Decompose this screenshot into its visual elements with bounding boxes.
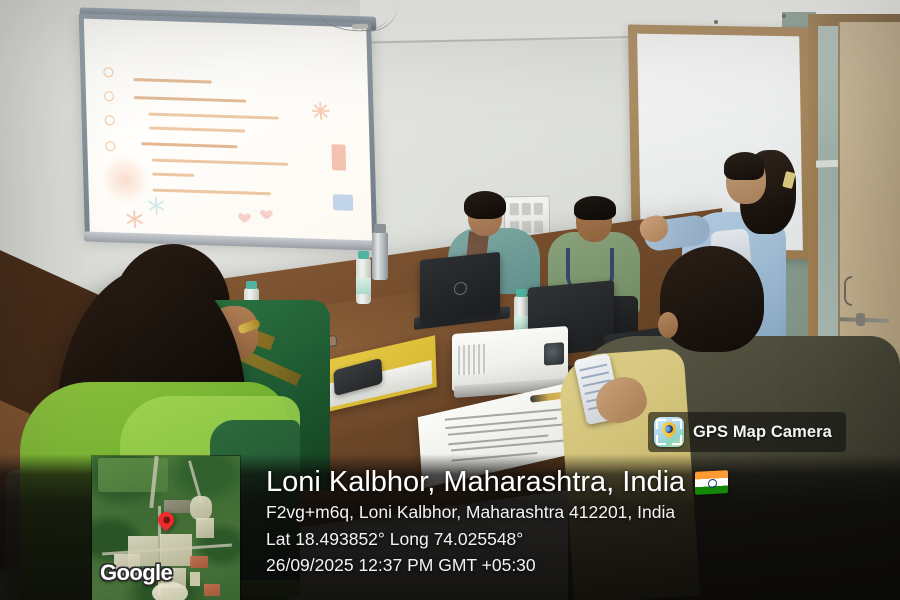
india-flag-icon [695,470,728,495]
foreground-participant-ear [658,312,678,338]
door-handle-icon[interactable] [844,276,852,306]
gps-map-camera-icon [654,417,684,447]
door-latch-knob[interactable] [856,313,865,326]
presenter-hair-front [724,152,764,180]
projection-screen [79,13,378,246]
projector-vent [458,344,486,376]
google-watermark: Google [100,560,172,586]
participant-man-hair [574,196,616,220]
map-building-9 [204,584,220,596]
gps-map-camera-label: GPS Map Camera [693,423,832,442]
projection-screen-surface [84,19,372,242]
whiteboard-nail-2 [782,14,786,18]
capture-timestamp: 26/09/2025 12:37 PM GMT +05:30 [266,554,866,577]
gps-map-camera-badge: GPS Map Camera [648,412,846,452]
map-building-10 [190,572,200,586]
location-address: F2vg+m6q, Loni Kalbhor, Maharashtra 4122… [266,501,866,524]
screenshot-root: GPS Map Camera Google Loni Kalbhor, Maha… [0,0,900,600]
whiteboard-nail [714,20,718,24]
foreground-participant-head [660,246,764,352]
steel-flask [372,232,388,280]
map-building-8 [190,556,208,568]
location-title: Loni Kalbhor, Maharashtra, India [266,466,685,498]
map-building-3 [196,518,214,538]
laptop-1[interactable] [420,256,500,318]
ceiling-cable-clip [352,24,368,30]
location-title-row: Loni Kalbhor, Maharashtra, India [266,466,866,498]
water-bottle-2 [356,258,371,304]
map-building-2 [190,496,212,520]
location-coordinates: Lat 18.493852° Long 74.025548° [266,528,866,551]
map-thumbnail[interactable]: Google [92,456,240,600]
gps-info-block: Loni Kalbhor, Maharashtra, India F2vg+m6… [266,466,866,577]
participant-teal-hair [464,191,506,219]
projector-lens [544,342,564,365]
